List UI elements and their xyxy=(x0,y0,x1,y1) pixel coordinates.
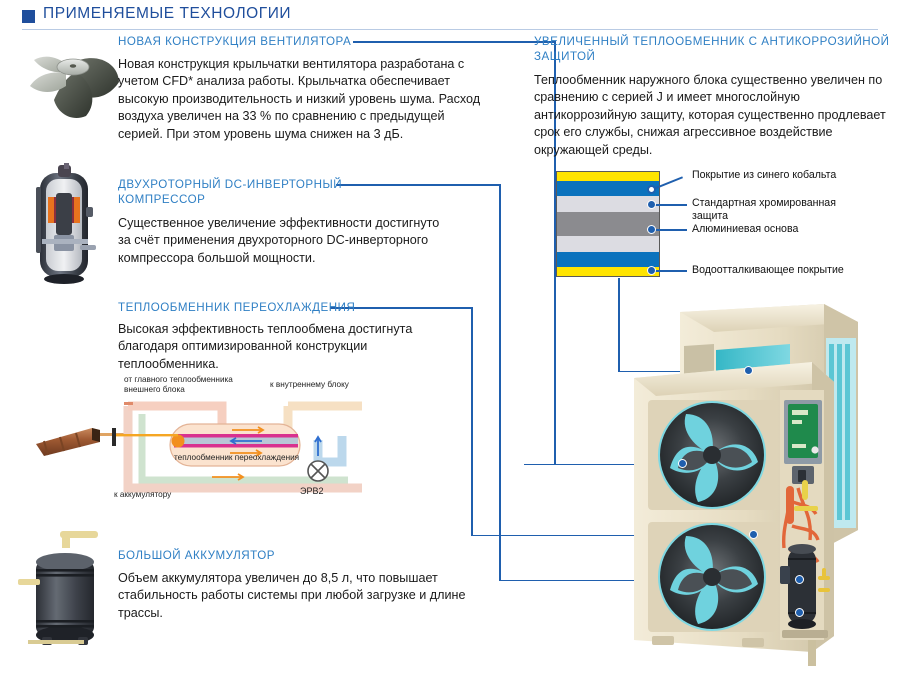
accumulator-image xyxy=(16,525,114,647)
unit-dot-accumulator xyxy=(795,608,804,617)
schematic-label-subcooling-hx: теплообменник переохлаждения xyxy=(174,453,299,463)
unit-dot-compressor xyxy=(795,575,804,584)
coating-layer-top-yellow xyxy=(557,172,659,181)
schematic-label-from-main-hx: от главного теплообменника внешнего блок… xyxy=(124,375,233,395)
connector-compressor-vertical xyxy=(499,184,501,581)
section-body-accumulator: Объем аккумулятора увеличен до 8,5 л, чт… xyxy=(118,570,468,622)
section-title-compressor: ДВУХРОТОРНЫЙ DC-ИНВЕРТОРНЫЙ КОМПРЕССОР xyxy=(118,178,348,207)
section-title-compressor-line1: ДВУХРОТОРНЫЙ DC-ИНВЕРТОРНЫЙ xyxy=(118,178,348,193)
coating-dot-water-repellent xyxy=(647,266,656,275)
page-title: ПРИМЕНЯЕМЫЕ ТЕХНОЛОГИИ xyxy=(43,5,291,23)
header-divider xyxy=(22,29,878,30)
section-body-compressor: Существенное увеличение эффективности до… xyxy=(118,215,448,267)
section-title-fan: НОВАЯ КОНСТРУКЦИЯ ВЕНТИЛЯТОРА xyxy=(118,35,358,50)
connector-compressor-horizontal-top xyxy=(336,184,501,186)
coating-label-chrome-line1: Стандартная хромированная xyxy=(692,197,892,210)
coating-dot-aluminium xyxy=(647,225,656,234)
section-body-heat-exchanger: Теплообменник наружного блока существенн… xyxy=(534,72,894,159)
fan-impeller-image xyxy=(18,36,126,132)
coating-label-chrome: Стандартная хромированная защита xyxy=(692,197,892,223)
section-body-subcooling: Высокая эффективность теплообмена достиг… xyxy=(118,321,468,373)
coating-layer-bottom-blue xyxy=(557,252,659,267)
technology-diagram-page: ПРИМЕНЯЕМЫЕ ТЕХНОЛОГИИ xyxy=(0,0,900,669)
leader-aluminium xyxy=(651,229,687,231)
section-title-subcooling: ТЕПЛООБМЕННИК ПЕРЕОХЛАЖДЕНИЯ xyxy=(118,301,358,316)
connector-fan-horizontal-top xyxy=(353,41,556,43)
coating-layer-top-blue xyxy=(557,181,659,196)
leader-water-repellent xyxy=(651,270,687,272)
connector-subcooling-vertical xyxy=(471,307,473,536)
outdoor-unit-illustration xyxy=(612,300,900,669)
schematic-label-from-main-hx-line2: внешнего блока xyxy=(124,385,233,395)
coating-label-water-repellent: Водоотталкивающее покрытие xyxy=(692,264,900,277)
coating-layer-aluminium-core xyxy=(557,212,659,237)
schematic-label-to-indoor-unit: к внутреннему блоку xyxy=(270,380,349,390)
schematic-label-evr2: ЭРВ2 xyxy=(300,486,323,496)
coating-dot-cobalt xyxy=(647,185,656,194)
schematic-label-to-accumulator: к аккумулятору xyxy=(114,490,171,500)
section-title-heat-exchanger-line2: ЗАЩИТОЙ xyxy=(534,50,894,65)
page-header: ПРИМЕНЯЕМЫЕ ТЕХНОЛОГИИ xyxy=(22,4,878,30)
section-body-fan: Новая конструкция крыльчатки вентилятора… xyxy=(118,56,486,143)
coating-layer-lower-light-gray xyxy=(557,236,659,252)
coating-layers-diagram xyxy=(556,171,660,277)
section-title-compressor-line2: КОМПРЕССОР xyxy=(118,193,348,208)
coating-label-cobalt: Покрытие из синего кобальта xyxy=(692,169,892,182)
section-title-heat-exchanger-line1: УВЕЛИЧЕННЫЙ ТЕПЛООБМЕННИК С АНТИКОРРОЗИЙ… xyxy=(534,35,894,50)
coating-layer-upper-light-gray xyxy=(557,196,659,212)
section-title-accumulator: БОЛЬШОЙ АККУМУЛЯТОР xyxy=(118,549,358,564)
coating-label-aluminium: Алюминиевая основа xyxy=(692,223,892,236)
leader-chrome xyxy=(651,204,687,206)
coating-layer-bottom-yellow xyxy=(557,267,659,276)
section-title-heat-exchanger: УВЕЛИЧЕННЫЙ ТЕПЛООБМЕННИК С АНТИКОРРОЗИЙ… xyxy=(534,35,894,64)
schematic-label-from-main-hx-line1: от главного теплообменника xyxy=(124,375,233,385)
unit-dot-heat-exchanger xyxy=(744,366,753,375)
unit-dot-fan xyxy=(678,459,687,468)
unit-dot-subcooling xyxy=(749,530,758,539)
coating-label-chrome-line2: защита xyxy=(692,210,892,223)
subcooling-schematic: от главного теплообменника внешнего блок… xyxy=(112,376,380,500)
compressor-cutaway-image xyxy=(28,163,102,289)
coating-dot-chrome xyxy=(647,200,656,209)
square-bullet-icon xyxy=(22,10,35,23)
